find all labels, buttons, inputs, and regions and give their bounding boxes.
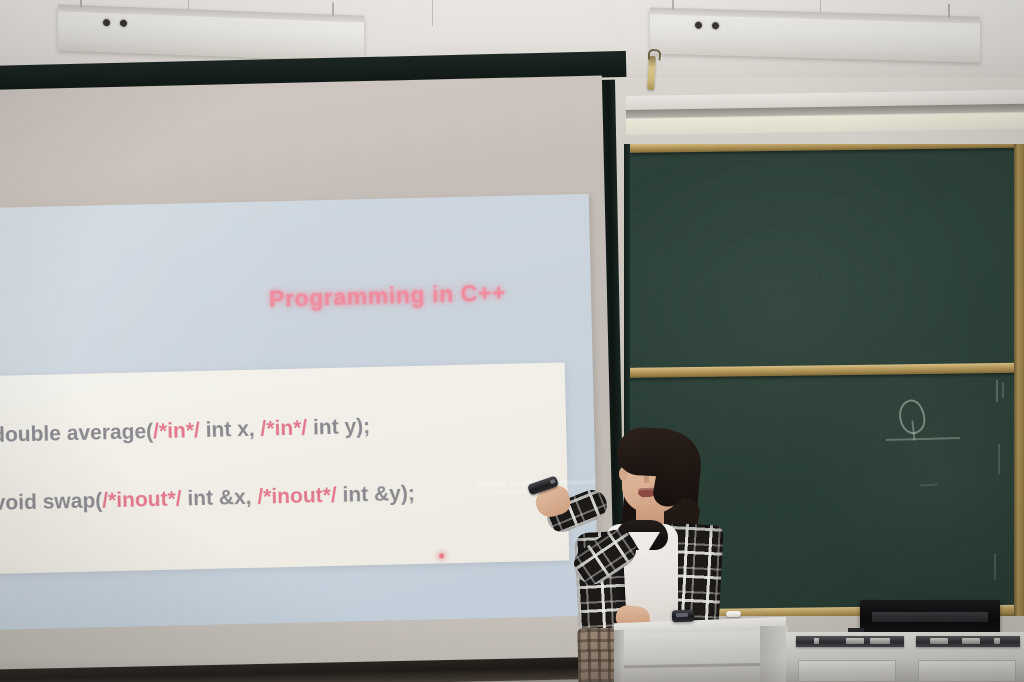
control-button[interactable]: [870, 638, 890, 644]
fixture-hanger-rod: [332, 2, 334, 16]
code-segment: int y);: [307, 415, 371, 439]
cabinet-control-strip[interactable]: [916, 636, 1020, 647]
code-segment: int &y);: [336, 482, 415, 507]
code-segment: double average(: [0, 420, 153, 447]
fixture-indicator-dot: [120, 20, 127, 27]
fixture-hanger-rod: [948, 4, 950, 18]
fixture-indicator-dot: [103, 19, 110, 26]
fixture-hanger-rod: [80, 0, 82, 7]
code-comment: /*inout*/: [102, 488, 182, 513]
chalkboard-frame-right: [1014, 144, 1024, 616]
code-segment: int x,: [200, 418, 261, 442]
code-line-2: void swap(/*inout*/ int &x, /*inout*/ in…: [0, 482, 415, 516]
control-button[interactable]: [930, 638, 948, 644]
monitor-screen: [872, 612, 988, 622]
code-segment: int &x,: [181, 486, 257, 511]
code-comment: /*in*/: [260, 417, 307, 441]
av-monitor[interactable]: [860, 600, 1000, 634]
presenter-hair-front: [616, 426, 690, 478]
presentation-clicker-on-lectern[interactable]: [672, 610, 694, 623]
projected-slide: Programming in C++ double average(/*in*/…: [0, 194, 599, 630]
control-button[interactable]: [962, 638, 980, 644]
floor-shadow: [0, 660, 1024, 682]
ceiling-light-fixture: [650, 7, 980, 62]
code-line-1: double average(/*in*/ int x, /*in*/ int …: [0, 415, 370, 448]
control-indicator: [994, 638, 1000, 644]
code-comment: /*in*/: [153, 419, 200, 443]
slide-title: Programming in C++: [269, 279, 507, 313]
fixture-indicator-dot: [695, 22, 702, 29]
ceiling-seam: [432, 0, 433, 26]
laser-pointer-dot: [439, 553, 444, 558]
fixture-indicator-dot: [712, 22, 719, 29]
fixture-hanger-rod: [672, 0, 674, 10]
slide-code-panel: double average(/*in*/ int x, /*in*/ int …: [0, 362, 569, 574]
code-segment: void swap(: [0, 489, 103, 515]
code-comment: /*inout*/: [257, 484, 337, 509]
chalk-stick[interactable]: [726, 611, 741, 618]
control-indicator: [814, 638, 819, 644]
lecture-hall-photo: Programming in C++ double average(/*in*/…: [0, 0, 1024, 682]
cabinet-control-strip[interactable]: [796, 636, 904, 647]
control-button[interactable]: [846, 638, 864, 644]
